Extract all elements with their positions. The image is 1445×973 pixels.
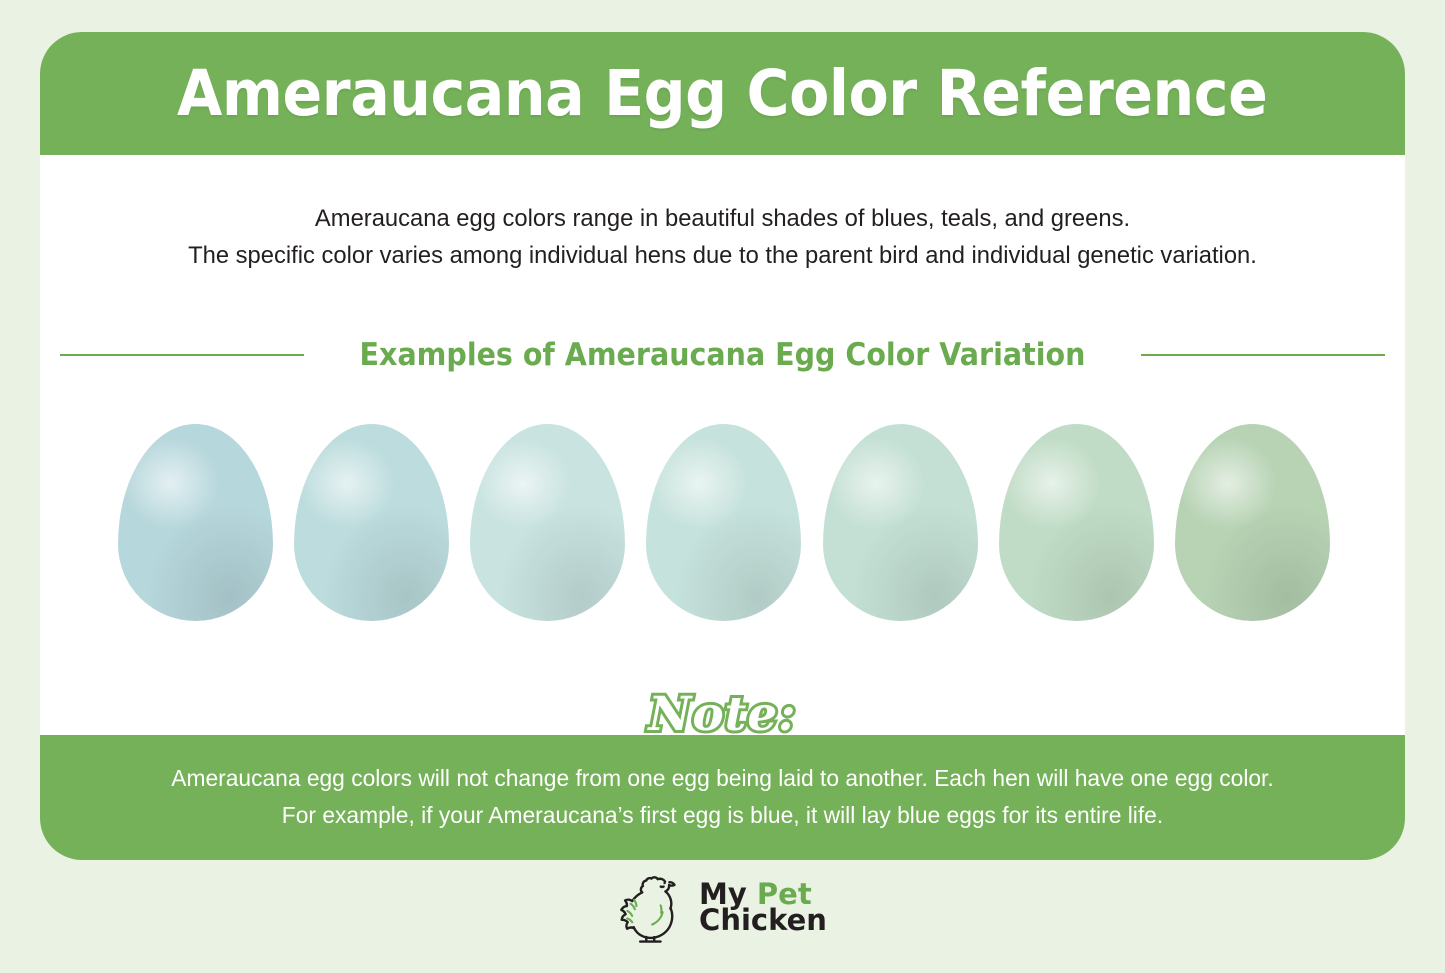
intro-line-1: Ameraucana egg colors range in beautiful… <box>60 200 1384 237</box>
egg-swatch-1 <box>118 424 273 621</box>
logo-word-chicken: Chicken <box>699 903 827 937</box>
egg-swatch-3 <box>470 424 625 621</box>
egg-highlight-icon <box>646 424 801 621</box>
note-line-2: For example, if your Ameraucana’s first … <box>60 797 1384 834</box>
section-heading: Examples of Ameraucana Egg Color Variati… <box>60 337 1385 373</box>
egg-swatch-4 <box>646 424 801 621</box>
egg-highlight-icon <box>999 424 1154 621</box>
egg-highlight-icon <box>118 424 273 621</box>
divider-line-left <box>60 354 304 356</box>
intro-text: Ameraucana egg colors range in beautiful… <box>40 200 1405 274</box>
logo-wordmark: My Pet Chicken <box>699 882 827 933</box>
header-banner: Ameraucana Egg Color Reference <box>40 32 1405 155</box>
section-title: Examples of Ameraucana Egg Color Variati… <box>356 337 1089 373</box>
egg-swatch-5 <box>823 424 978 621</box>
note-heading: Note: <box>40 687 1405 742</box>
infographic-card: Ameraucana Egg Color Reference Ameraucan… <box>40 32 1405 860</box>
egg-swatch-6 <box>999 424 1154 621</box>
logo-line-2: Chicken <box>699 908 827 934</box>
intro-line-2: The specific color varies among individu… <box>60 237 1384 274</box>
egg-highlight-icon <box>1175 424 1330 621</box>
egg-swatch-2 <box>294 424 449 621</box>
note-heading-label: Note: <box>648 687 796 742</box>
note-body: Ameraucana egg colors will not change fr… <box>40 760 1405 834</box>
egg-swatch-7 <box>1175 424 1330 621</box>
page-title: Ameraucana Egg Color Reference <box>177 57 1267 130</box>
brand-logo: My Pet Chicken <box>0 872 1445 944</box>
egg-color-swatch-row <box>118 420 1330 625</box>
divider-line-right <box>1141 354 1385 356</box>
note-line-1: Ameraucana egg colors will not change fr… <box>60 760 1384 797</box>
egg-highlight-icon <box>823 424 978 621</box>
chicken-icon <box>618 872 694 944</box>
egg-highlight-icon <box>470 424 625 621</box>
egg-highlight-icon <box>294 424 449 621</box>
